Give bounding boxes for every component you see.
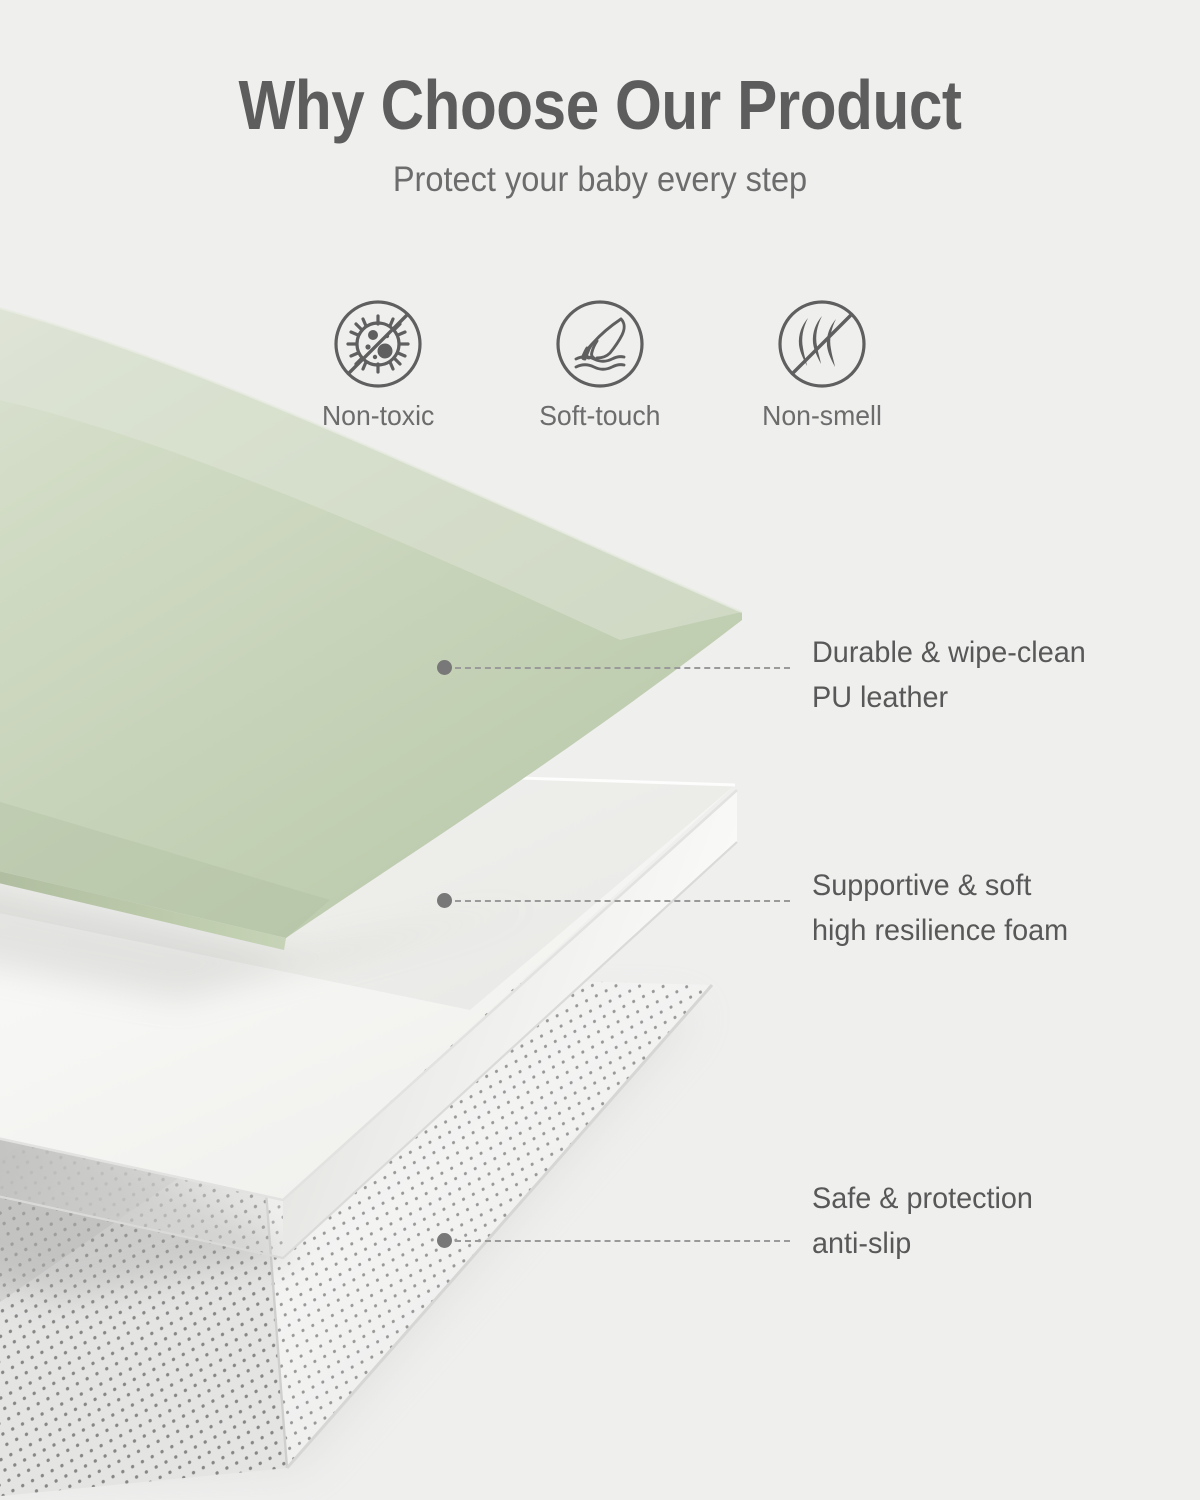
callout-line-1: Safe & protection [812,1176,1033,1221]
callout-line-2: anti-slip [812,1221,1033,1266]
product-infographic: Why Choose Our Product Protect your baby… [0,0,1200,1500]
callout-group: Durable & wipe-clean PU leather Supporti… [0,0,1200,1500]
callout-text-hr-foam: Supportive & soft high resilience foam [812,863,1068,953]
callout-leader-line-hr-foam [455,900,790,902]
callout-line-2: PU leather [812,675,1086,720]
callout-dot-pu-leather [437,660,452,675]
callout-leader-line-pu-leather [455,667,790,669]
callout-text-pu-leather: Durable & wipe-clean PU leather [812,630,1086,720]
callout-dot-anti-slip [437,1233,452,1248]
callout-line-1: Durable & wipe-clean [812,630,1086,675]
callout-leader-line-anti-slip [455,1240,790,1242]
callout-line-2: high resilience foam [812,908,1068,953]
callout-text-anti-slip: Safe & protection anti-slip [812,1176,1033,1266]
callout-line-1: Supportive & soft [812,863,1068,908]
callout-dot-hr-foam [437,893,452,908]
